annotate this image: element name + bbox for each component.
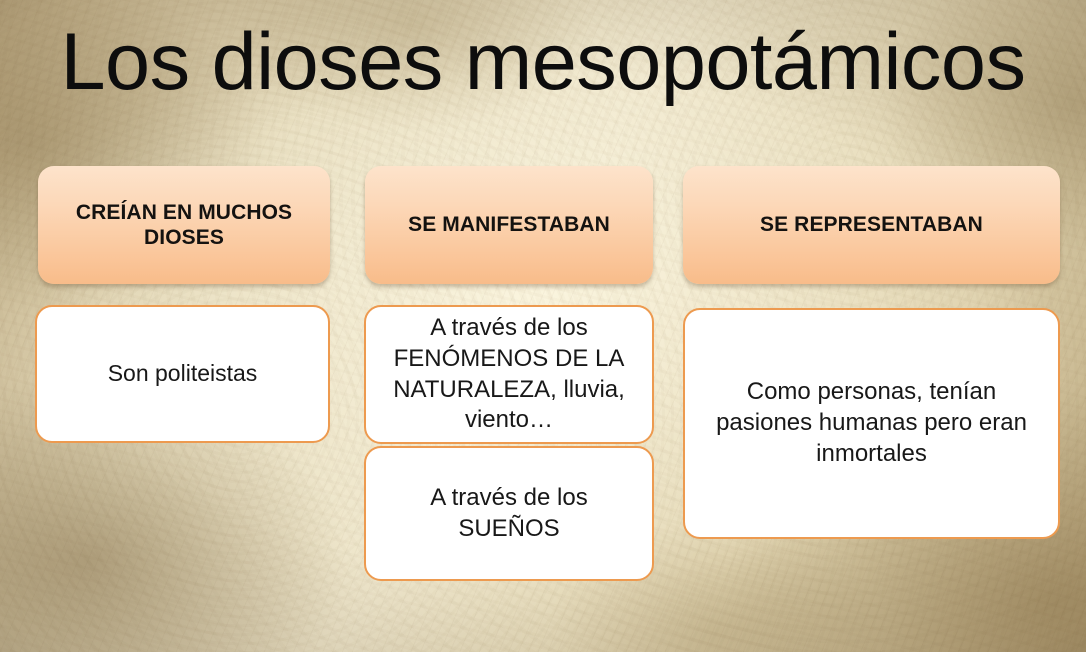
header-box-label: SE MANIFESTABAN — [408, 212, 610, 237]
content-box-label: Son politeistas — [108, 359, 258, 388]
header-box-se-representaban[interactable]: SE REPRESENTABAN — [683, 166, 1060, 284]
slide-canvas: Los dioses mesopotámicos CREÍAN EN MUCHO… — [0, 0, 1086, 652]
content-box-label: A través de los SUEÑOS — [379, 483, 639, 544]
content-box-label: A través de los FENÓMENOS DE LA NATURALE… — [379, 313, 639, 436]
header-box-label: CREÍAN EN MUCHOS DIOSES — [50, 200, 318, 250]
page-title: Los dioses mesopotámicos — [0, 22, 1086, 103]
content-box-como-personas[interactable]: Como personas, tenían pasiones humanas p… — [683, 308, 1060, 539]
header-box-label: SE REPRESENTABAN — [760, 212, 983, 237]
header-box-creian-en-muchos-dioses[interactable]: CREÍAN EN MUCHOS DIOSES — [38, 166, 330, 284]
content-box-son-politeistas[interactable]: Son politeistas — [35, 305, 330, 443]
content-box-fenomenos-de-la-naturaleza[interactable]: A través de los FENÓMENOS DE LA NATURALE… — [364, 305, 654, 444]
content-box-label: Como personas, tenían pasiones humanas p… — [698, 377, 1045, 469]
header-box-se-manifestaban[interactable]: SE MANIFESTABAN — [365, 166, 653, 284]
content-box-suenos[interactable]: A través de los SUEÑOS — [364, 446, 654, 581]
